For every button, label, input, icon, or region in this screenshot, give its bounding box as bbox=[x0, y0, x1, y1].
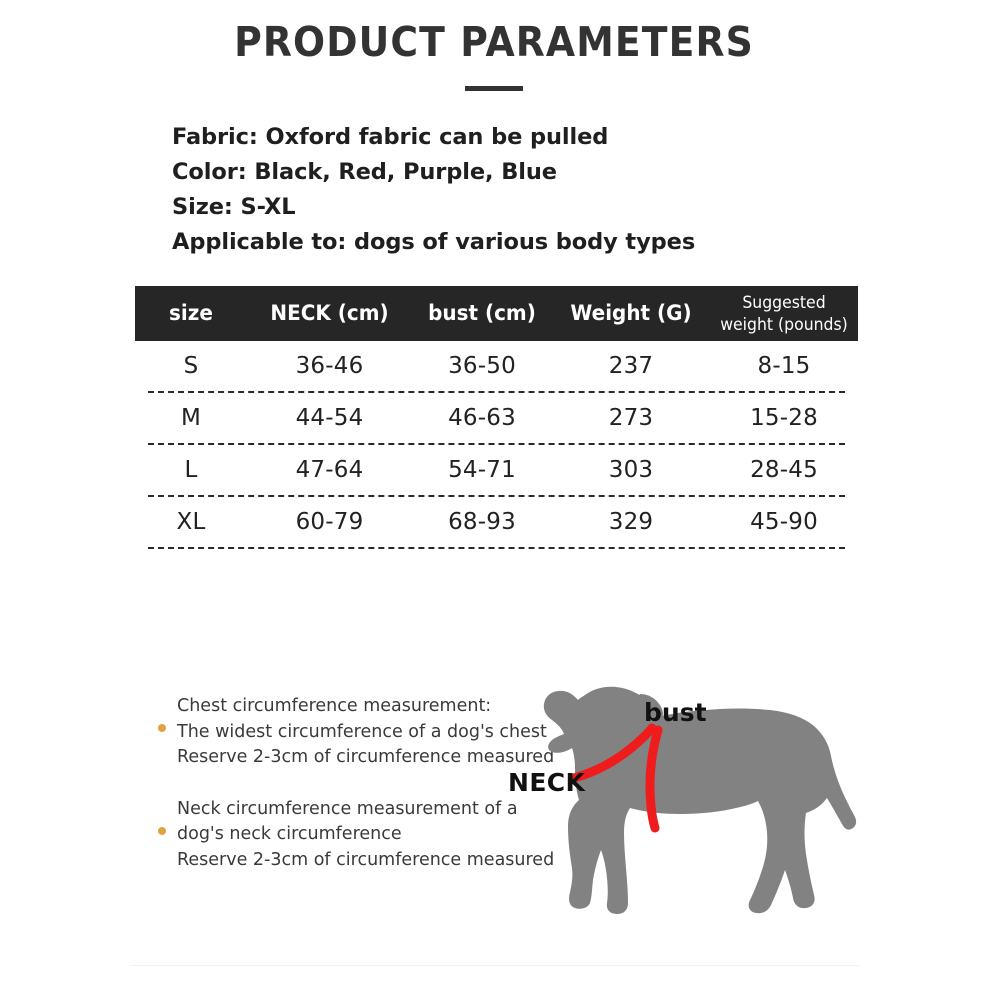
spec-line-size: Size: S-XL bbox=[172, 190, 812, 225]
note-line: Neck circumference measurement of a bbox=[177, 797, 527, 823]
cell-suggested: 28-45 bbox=[710, 457, 858, 483]
title-divider bbox=[465, 86, 523, 91]
column-header-suggested-line2: weight (pounds) bbox=[714, 314, 855, 335]
table-row: M 44-54 46-63 273 15-28 bbox=[135, 393, 858, 443]
bullet-dot-icon bbox=[158, 827, 166, 835]
table-header-row: size NECK (cm) bust (cm) Weight (G) Sugg… bbox=[135, 286, 858, 341]
note-line: dog's neck circumference bbox=[177, 822, 527, 848]
cell-suggested: 8-15 bbox=[710, 353, 858, 379]
note-line: Reserve 2-3cm of circumference measured bbox=[177, 848, 527, 874]
cell-size: S bbox=[135, 353, 247, 379]
cell-neck: 47-64 bbox=[247, 457, 412, 483]
note-line: Chest circumference measurement: bbox=[177, 694, 527, 720]
diagram-label-neck: NECK bbox=[508, 768, 585, 797]
column-header-suggested-line1: Suggested bbox=[714, 292, 855, 313]
note-line: Reserve 2-3cm of circumference measured bbox=[177, 745, 527, 771]
spec-line-fabric: Fabric: Oxford fabric can be pulled bbox=[172, 120, 812, 155]
note-line: The widest circumference of a dog's ches… bbox=[177, 720, 527, 746]
cell-size: M bbox=[135, 405, 247, 431]
cell-size: L bbox=[135, 457, 247, 483]
cell-bust: 36-50 bbox=[412, 353, 552, 379]
table-row: XL 60-79 68-93 329 45-90 bbox=[135, 497, 858, 547]
cell-neck: 60-79 bbox=[247, 509, 412, 535]
column-header-weight: Weight (G) bbox=[556, 301, 706, 325]
cell-weight: 273 bbox=[552, 405, 710, 431]
row-separator bbox=[148, 547, 845, 549]
diagram-label-bust: bust bbox=[644, 698, 707, 727]
column-header-neck: NECK (cm) bbox=[251, 301, 408, 325]
column-header-suggested-weight: Suggested weight (pounds) bbox=[714, 292, 855, 334]
measurement-notes: Chest circumference measurement: The wid… bbox=[157, 694, 527, 899]
spec-line-color: Color: Black, Red, Purple, Blue bbox=[172, 155, 812, 190]
table-row: S 36-46 36-50 237 8-15 bbox=[135, 341, 858, 391]
page-title: PRODUCT PARAMETERS bbox=[40, 18, 949, 66]
cell-weight: 237 bbox=[552, 353, 710, 379]
cell-bust: 54-71 bbox=[412, 457, 552, 483]
cell-neck: 44-54 bbox=[247, 405, 412, 431]
cell-weight: 329 bbox=[552, 509, 710, 535]
cell-suggested: 45-90 bbox=[710, 509, 858, 535]
note-group-chest: Chest circumference measurement: The wid… bbox=[157, 694, 527, 771]
cell-bust: 68-93 bbox=[412, 509, 552, 535]
dog-measurement-diagram: NECK bust bbox=[500, 660, 870, 950]
cell-size: XL bbox=[135, 509, 247, 535]
column-header-size: size bbox=[138, 301, 244, 325]
bottom-divider bbox=[130, 965, 860, 966]
spec-line-applicable: Applicable to: dogs of various body type… bbox=[172, 225, 812, 260]
note-group-neck: Neck circumference measurement of a dog'… bbox=[157, 797, 527, 874]
cell-neck: 36-46 bbox=[247, 353, 412, 379]
size-table: size NECK (cm) bust (cm) Weight (G) Sugg… bbox=[135, 286, 858, 549]
cell-suggested: 15-28 bbox=[710, 405, 858, 431]
bullet-dot-icon bbox=[158, 724, 166, 732]
column-header-bust: bust (cm) bbox=[416, 301, 549, 325]
table-row: L 47-64 54-71 303 28-45 bbox=[135, 445, 858, 495]
table-body: S 36-46 36-50 237 8-15 M 44-54 46-63 273… bbox=[135, 341, 858, 549]
cell-bust: 46-63 bbox=[412, 405, 552, 431]
spec-list: Fabric: Oxford fabric can be pulled Colo… bbox=[172, 120, 812, 260]
cell-weight: 303 bbox=[552, 457, 710, 483]
